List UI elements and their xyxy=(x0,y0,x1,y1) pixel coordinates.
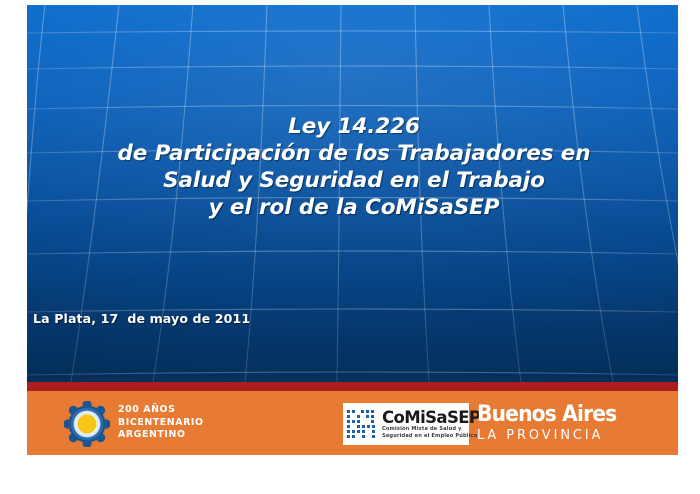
buenos-aires-title: Buenos Aires xyxy=(477,403,638,426)
buenos-aires-subtitle: LA PROVINCIA xyxy=(477,427,643,443)
slide-canvas: Ley 14.226 de Participación de los Traba… xyxy=(0,0,700,494)
bicentenario-line-1: 200 AÑOS xyxy=(118,404,248,417)
comisasep-subtitle-line-1: Comisión Mixta de Salud y xyxy=(382,426,480,433)
slide-date: La Plata, 17 de mayo de 2011 xyxy=(33,311,250,327)
bicentenario-line-3: ARGENTINO xyxy=(118,429,248,442)
bicentenario-logo: 200 AÑOS BICENTENARIO ARGENTINO xyxy=(64,398,244,450)
comisasep-logo: CoMiSaSEP Comisión Mixta de Salud y Segu… xyxy=(343,403,469,445)
title-line-4: y el rol de la CoMiSaSEP xyxy=(54,194,654,221)
sun-of-may-emblem-icon xyxy=(64,401,110,447)
dot-matrix-mark-icon xyxy=(346,408,379,441)
bicentenario-line-2: BICENTENARIO xyxy=(118,417,248,430)
footer-band: 200 AÑOS BICENTENARIO ARGENTINO xyxy=(27,391,678,455)
comisasep-wordmark: CoMiSaSEP xyxy=(382,409,480,426)
slide-title: Ley 14.226 de Participación de los Traba… xyxy=(54,113,654,221)
title-line-2: de Participación de los Trabajadores en xyxy=(54,140,654,167)
presentation-slide: Ley 14.226 de Participación de los Traba… xyxy=(27,5,678,455)
title-line-1: Ley 14.226 xyxy=(54,113,654,140)
comisasep-wordmark-block: CoMiSaSEP Comisión Mixta de Salud y Segu… xyxy=(382,409,480,439)
red-divider-rule xyxy=(27,382,678,391)
bicentenario-wordmark: 200 AÑOS BICENTENARIO ARGENTINO xyxy=(118,404,248,442)
buenos-aires-logo: Buenos Aires LA PROVINCIA xyxy=(477,403,652,447)
comisasep-subtitle-line-2: Seguridad en el Empleo Público xyxy=(382,433,480,440)
title-line-3: Salud y Seguridad en el Trabajo xyxy=(54,167,654,194)
